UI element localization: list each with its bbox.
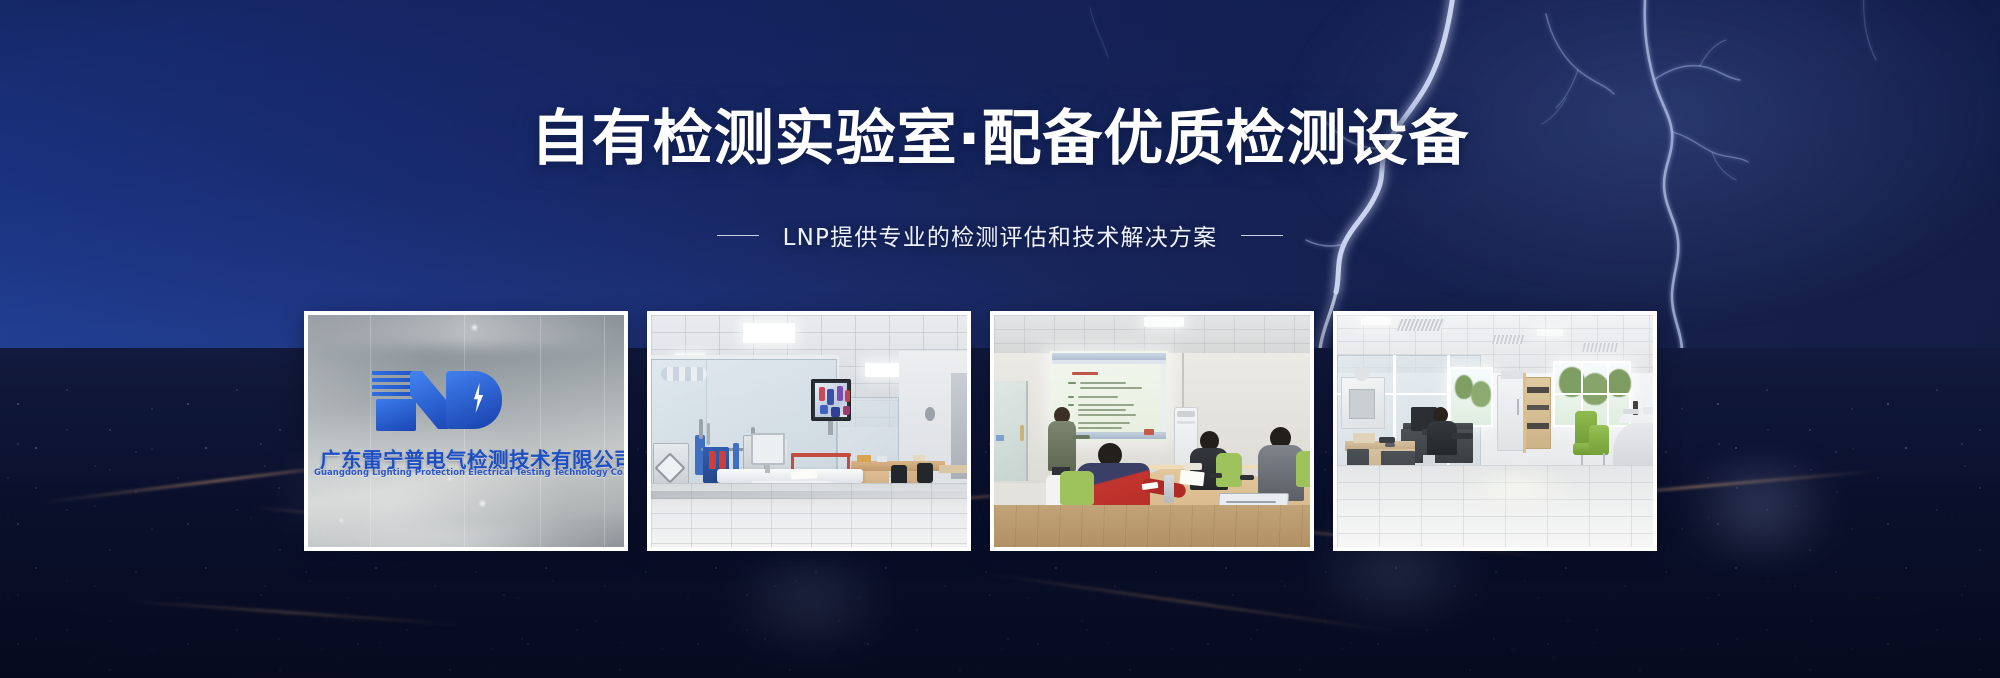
- presenter-body: [1048, 421, 1076, 471]
- rule-left-icon: [717, 235, 759, 236]
- gallery-item-meeting-room[interactable]: [990, 311, 1314, 551]
- green-chair-front: [1589, 425, 1609, 455]
- signage-wall: [308, 315, 624, 547]
- gallery-item-company-signage[interactable]: 广东雷宁普电气检测技术有限公司 Guangdong Lighting Prote…: [304, 311, 628, 551]
- company-name-en: Guangdong Lighting Protection Electrical…: [314, 467, 618, 477]
- wall-tv: [811, 379, 851, 421]
- rule-right-icon: [1241, 235, 1283, 236]
- office-area-photo: [1337, 315, 1653, 547]
- page-subtitle: LNP提供专业的检测评估和技术解决方案: [783, 218, 1218, 252]
- testing-laboratory-photo: [651, 315, 967, 547]
- meeting-room-photo: [994, 315, 1310, 547]
- photo-gallery: 广东雷宁普电气检测技术有限公司 Guangdong Lighting Prote…: [304, 311, 1657, 551]
- window-left: [1449, 367, 1493, 427]
- page-title: 自有检测实验室·配备优质检测设备: [0, 108, 2000, 170]
- tall-cabinet: [1497, 375, 1525, 451]
- hero-banner: 自有检测实验室·配备优质检测设备 LNP提供专业的检测评估和技术解决方案: [0, 0, 2000, 678]
- gallery-item-testing-laboratory[interactable]: [647, 311, 971, 551]
- subtitle-row: LNP提供专业的检测评估和技术解决方案: [0, 218, 2000, 252]
- gallery-item-office-area[interactable]: [1333, 311, 1657, 551]
- lnp-logo-icon: [372, 369, 502, 431]
- company-signage-photo: 广东雷宁普电气检测技术有限公司 Guangdong Lighting Prote…: [308, 315, 624, 547]
- console-monitor: [751, 433, 785, 465]
